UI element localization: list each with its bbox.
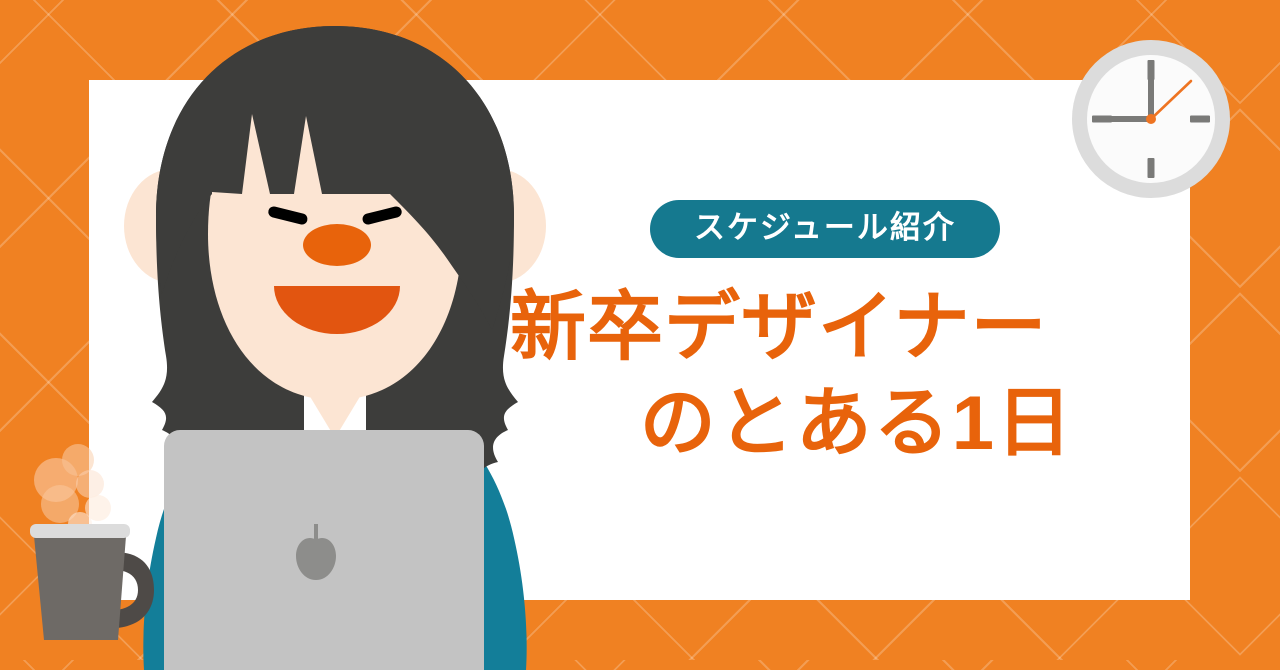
- clock-hour-hand: [1110, 116, 1152, 122]
- headline-line-1: 新卒デザイナー: [510, 290, 1170, 366]
- nose: [303, 224, 371, 266]
- laptop: [164, 430, 484, 670]
- wall-clock-svg: [1072, 40, 1230, 198]
- laptop-svg: [164, 430, 484, 670]
- mug-rim: [30, 524, 130, 538]
- coffee-mug: [22, 438, 168, 670]
- clock-tick-6: [1148, 158, 1155, 178]
- coffee-mug-svg: [22, 438, 168, 670]
- clock-tick-9: [1092, 116, 1112, 123]
- headline-line-2: のとある1日: [510, 386, 1170, 462]
- banner-canvas: スケジュール紹介 新卒デザイナー のとある1日: [0, 0, 1280, 670]
- clock-center-dot: [1146, 114, 1156, 124]
- clock-tick-3: [1190, 116, 1210, 123]
- clock-minute-hand: [1148, 72, 1154, 120]
- text-block: スケジュール紹介 新卒デザイナー のとある1日: [510, 200, 1170, 462]
- status-badge: スケジュール紹介: [650, 200, 1000, 258]
- steam-icon: [34, 444, 111, 536]
- mug-body: [34, 536, 126, 640]
- wall-clock: [1072, 40, 1230, 198]
